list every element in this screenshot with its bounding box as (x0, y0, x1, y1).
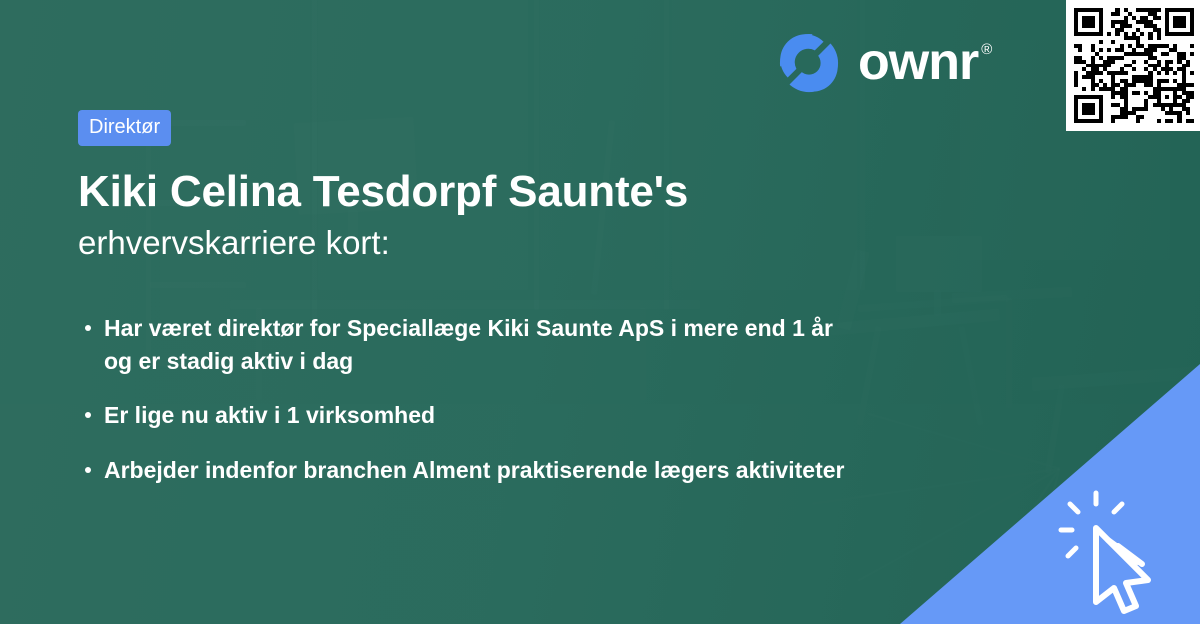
ownr-logo[interactable]: ownr ® (778, 32, 992, 94)
click-cursor-icon (1052, 484, 1182, 614)
list-item: Arbejder indenfor branchen Alment prakti… (80, 454, 980, 487)
brand-name: ownr (858, 38, 978, 87)
ownr-wordmark: ownr ® (858, 38, 992, 87)
page-subtitle: erhvervskarriere kort: (78, 224, 1008, 263)
list-item: Har været direktør for Speciallæge Kiki … (80, 312, 840, 377)
qr-code-icon[interactable] (1066, 0, 1200, 131)
headline-block: Direktør Kiki Celina Tesdorpf Saunte's e… (78, 110, 1008, 263)
registered-trademark-icon: ® (981, 42, 992, 57)
ownr-circle-swirl-icon (778, 32, 840, 94)
career-card: ownr ® Direktør Kiki Celina Tesdorpf Sau… (0, 0, 1200, 624)
page-title: Kiki Celina Tesdorpf Saunte's (78, 168, 1008, 216)
status-badge: Direktør (78, 110, 171, 146)
career-facts-list: Har været direktør for Speciallæge Kiki … (80, 312, 980, 509)
list-item: Er lige nu aktiv i 1 virksomhed (80, 399, 980, 432)
qr-code-modules (1074, 8, 1194, 123)
